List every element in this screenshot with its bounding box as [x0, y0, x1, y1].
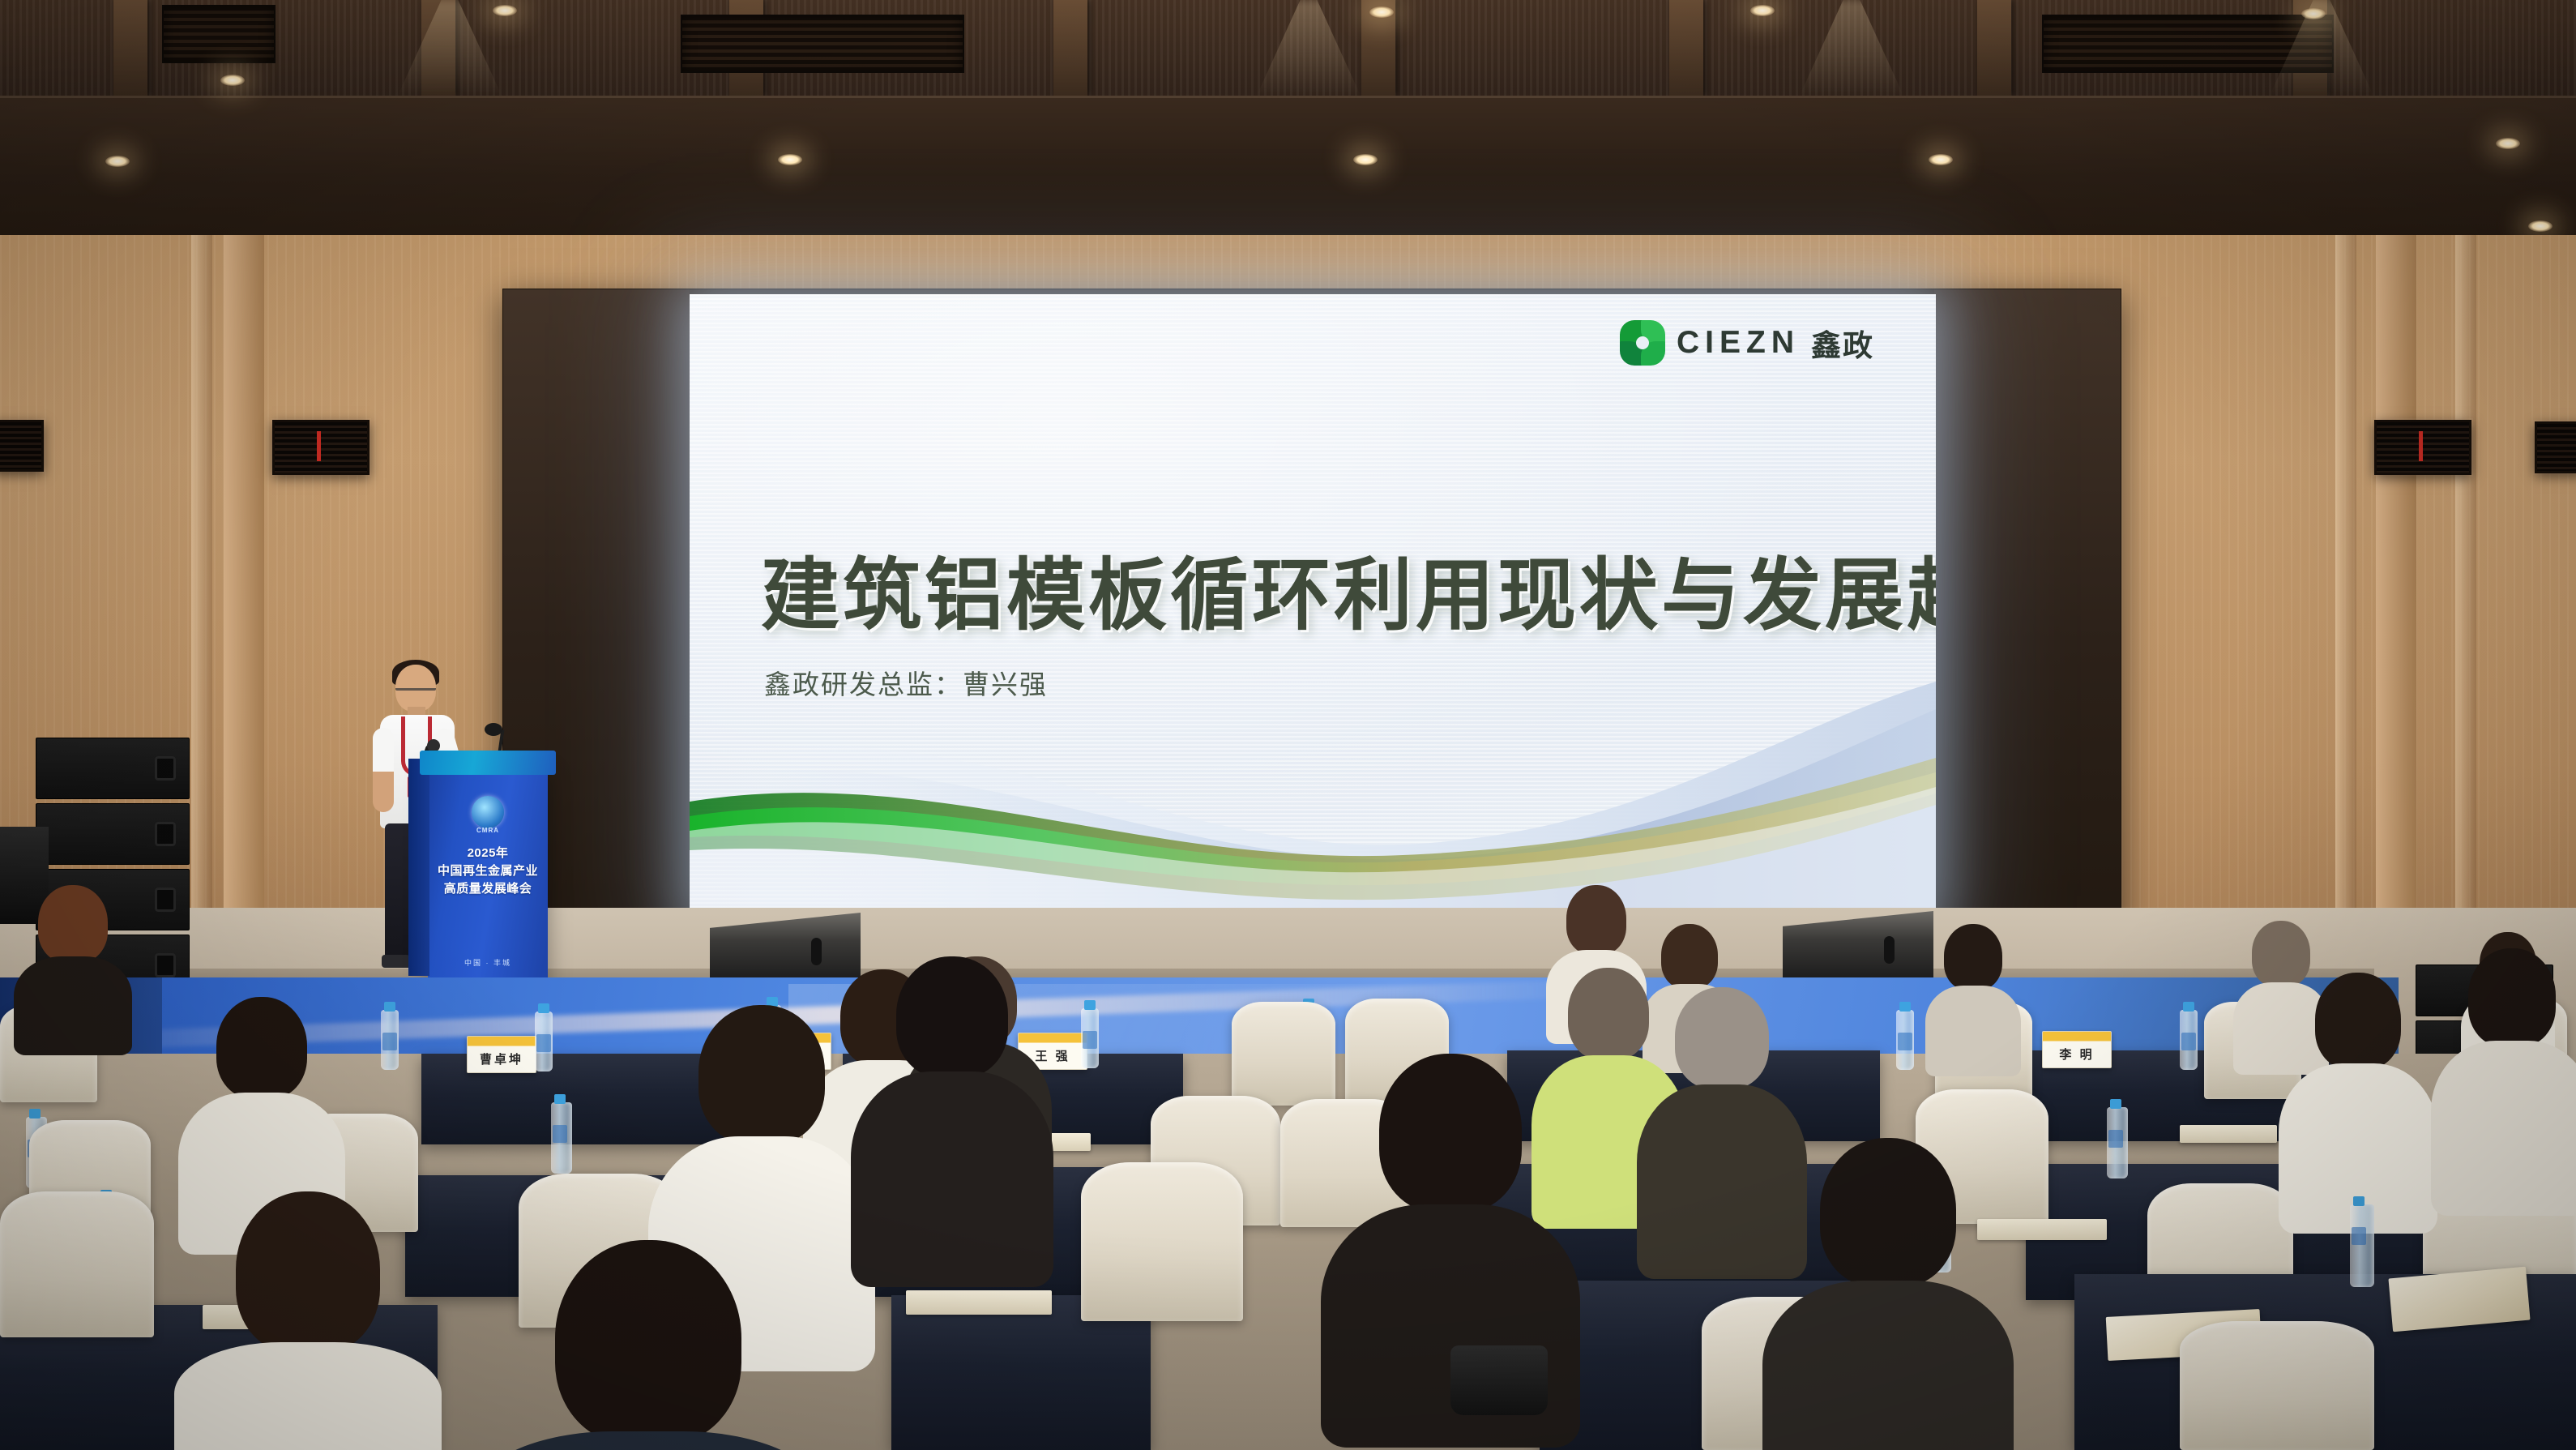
- led-screen-surround: CIEZN 鑫政 建筑铝模板循环利用现状与发展趋势 鑫政研发总监：曹兴强: [502, 289, 2121, 929]
- ceiling-beam: [113, 0, 147, 96]
- audience-chair: [0, 1191, 154, 1337]
- person-striped-shirt: [474, 1431, 822, 1450]
- audience-chair: [1081, 1162, 1243, 1321]
- glasses-icon: [395, 682, 436, 691]
- person-body: [2431, 1041, 2576, 1216]
- wall-niche: [2535, 421, 2576, 473]
- wall-pilaster: [2376, 235, 2416, 989]
- audience-chair: [2180, 1321, 2374, 1450]
- screen-bezel-right: [1934, 289, 2121, 930]
- wall-pilaster: [191, 235, 212, 989]
- podium-line-2: 中国再生金属产业: [428, 862, 548, 880]
- gooseneck-mic-head-icon: [485, 723, 502, 736]
- person-head: [1566, 885, 1626, 955]
- name-placard: 李 明: [2042, 1031, 2112, 1068]
- conference-photo-scene: CIEZN 鑫政 建筑铝模板循环利用现状与发展趋势 鑫政研发总监：曹兴强: [0, 0, 2576, 1450]
- wall-pilaster: [2455, 235, 2476, 989]
- ceiling-downlight: [1353, 154, 1378, 165]
- person-head: [2468, 948, 2556, 1047]
- person-head: [216, 997, 307, 1099]
- ceiling-downlight: [105, 156, 130, 167]
- name-placard: 曹卓坤: [467, 1036, 536, 1073]
- water-bottle: [535, 1012, 553, 1071]
- ceiling-downlight: [2301, 8, 2326, 19]
- ceiling-downlight: [2528, 220, 2553, 232]
- ceiling-downlight: [2496, 138, 2520, 149]
- ceiling-beam: [1669, 0, 1703, 96]
- line-array-module: [36, 738, 190, 799]
- person-head: [1379, 1054, 1522, 1213]
- person-head: [896, 956, 1008, 1078]
- niche-red-accent: [2419, 431, 2423, 461]
- audience-person: [1929, 924, 2018, 1054]
- ceiling-soffit: [0, 96, 2576, 243]
- audience-person: [1766, 1138, 2010, 1450]
- slide-brand-logo: CIEZN 鑫政: [1620, 320, 1874, 366]
- podium-side-panel: [408, 759, 429, 976]
- person-body: [1762, 1281, 2014, 1450]
- person-body: [174, 1342, 442, 1450]
- audience-person: [2285, 973, 2431, 1216]
- logo-chinese-text: 鑫政: [1811, 321, 1874, 365]
- podium-year: 2025年: [428, 845, 548, 862]
- audience-person-striped-polo: [486, 1240, 810, 1450]
- notepad: [906, 1290, 1052, 1315]
- led-presentation-screen[interactable]: CIEZN 鑫政 建筑铝模板循环利用现状与发展趋势 鑫政研发总监：曹兴强: [690, 294, 1936, 925]
- placard-name: 李 明: [2059, 1046, 2094, 1067]
- ceiling-downlight: [493, 5, 517, 16]
- ceiling-vent-grille: [681, 15, 964, 73]
- podium-line-3: 高质量发展峰会: [428, 880, 548, 898]
- water-bottle: [381, 1010, 399, 1070]
- wall-niche: [272, 420, 370, 475]
- podium-location: 中国 · 丰城: [428, 957, 548, 968]
- ceiling: [0, 0, 2576, 243]
- wall-niche: [2374, 420, 2471, 475]
- podium-top-surface: [420, 751, 556, 775]
- audience-person: [186, 1191, 429, 1450]
- audience-chair: [1232, 1002, 1335, 1106]
- audience-person: [2439, 948, 2576, 1191]
- placard-name: 曹卓坤: [480, 1050, 523, 1072]
- niche-red-accent: [317, 431, 321, 461]
- presenter-left-arm: [373, 728, 394, 812]
- speaker-podium: CMRA 2025年 中国再生金属产业 高质量发展峰会 中国 · 丰城: [428, 763, 548, 981]
- person-head: [555, 1240, 741, 1444]
- podium-title-block: 2025年 中国再生金属产业 高质量发展峰会: [428, 845, 548, 897]
- person-body: [851, 1071, 1053, 1287]
- wall-pilaster: [2335, 235, 2356, 989]
- ciezn-pinwheel-logo-icon: [1620, 320, 1665, 366]
- ceiling-downlight: [778, 154, 802, 165]
- person-head: [698, 1005, 825, 1144]
- water-bottle: [2350, 1204, 2374, 1287]
- slide-subtitle: 鑫政研发总监：曹兴强: [764, 663, 1048, 702]
- person-head: [38, 885, 108, 963]
- wall-pilaster: [224, 235, 264, 989]
- cmra-emblem-icon: [472, 796, 504, 828]
- person-head: [2315, 973, 2401, 1070]
- water-bottle: [2107, 1107, 2128, 1178]
- slide-title: 建筑铝模板循环利用现状与发展趋势: [761, 531, 1936, 645]
- cmra-emblem-label: CMRA: [476, 827, 499, 834]
- ceiling-downlight: [1369, 6, 1394, 18]
- water-bottle: [551, 1102, 572, 1174]
- ceiling-beam: [1053, 0, 1087, 96]
- water-bottle: [1896, 1010, 1914, 1070]
- notepad: [2180, 1125, 2277, 1143]
- floor-bag: [1450, 1345, 1548, 1415]
- person-head: [1820, 1138, 1956, 1287]
- wall-niche: [0, 420, 44, 472]
- person-head: [1944, 924, 2002, 990]
- ceiling-vent-grille: [162, 5, 276, 63]
- ceiling-downlight: [1750, 5, 1775, 16]
- person-head: [236, 1191, 380, 1354]
- ceiling-beam: [1977, 0, 2011, 96]
- person-body: [1925, 986, 2021, 1076]
- water-bottle: [1081, 1008, 1099, 1068]
- person-head: [1675, 987, 1769, 1089]
- ceiling-downlight: [220, 75, 245, 86]
- line-array-module: [36, 803, 190, 865]
- ceiling-downlight: [1929, 154, 1953, 165]
- person-body: [14, 956, 132, 1055]
- audience-person: [859, 956, 1045, 1264]
- water-bottle: [2180, 1010, 2198, 1070]
- logo-latin-text: CIEZN: [1677, 325, 1800, 361]
- audience-person: [16, 885, 130, 1039]
- person-head: [1568, 968, 1649, 1060]
